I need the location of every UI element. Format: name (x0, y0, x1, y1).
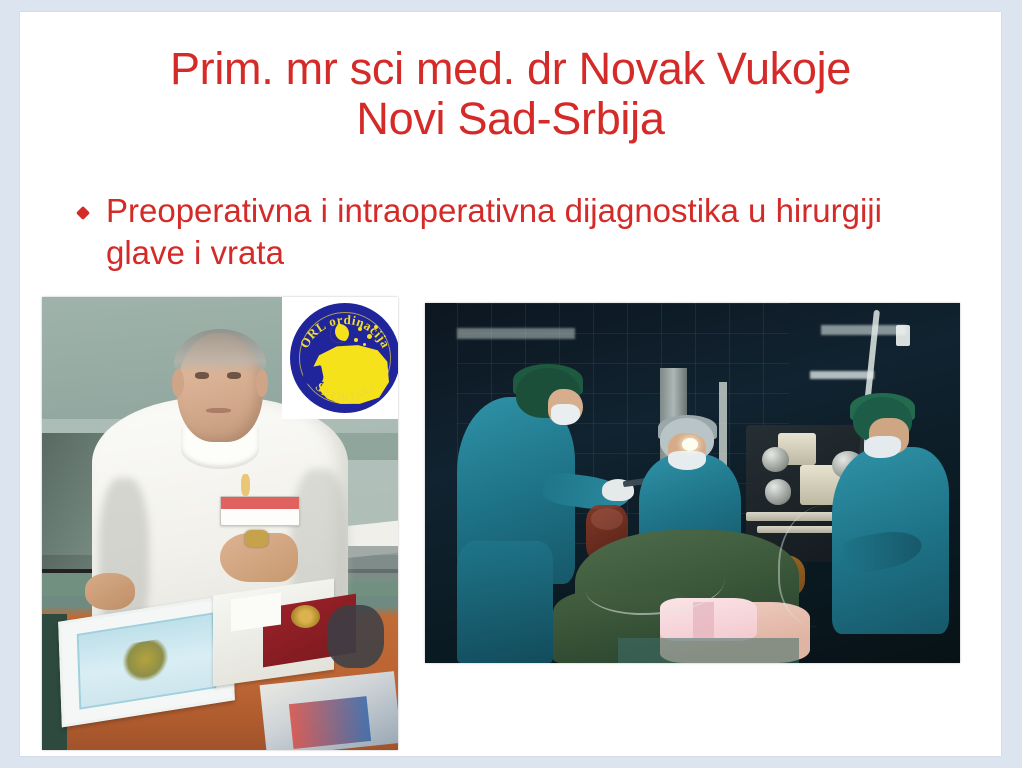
magazine-cover-art (289, 696, 372, 749)
star-icon (367, 334, 372, 339)
operating-table-sheet (618, 638, 800, 663)
doctor-ear-right (256, 369, 268, 396)
logo-circle: ORL ordinacija SNORING (290, 303, 398, 413)
anesthetist-face-mask (864, 436, 901, 458)
star-icon (363, 343, 366, 346)
orl-clinic-logo: ORL ordinacija SNORING (282, 297, 398, 419)
equipment-knob-2 (765, 479, 792, 504)
wristwatch (245, 530, 268, 546)
patient-clothing-band (693, 602, 714, 638)
tube-connector (896, 325, 910, 347)
doctor-mouth (206, 408, 231, 413)
title-line-2: Novi Sad-Srbija (20, 94, 1001, 144)
headlamp-icon (682, 438, 698, 451)
ceiling-light-right (821, 325, 907, 336)
bullet-list-item: Preoperativna i intraoperativna dijagnos… (78, 190, 958, 274)
bullet-diamond-icon (76, 206, 90, 220)
breathing-circuit-cable (778, 505, 876, 627)
operating-room-photo (425, 303, 960, 663)
name-badge (220, 496, 300, 526)
desk-object-dark (327, 605, 384, 668)
crescent-moon-icon (330, 324, 349, 343)
slide-frame: Prim. mr sci med. dr Novak Vukoje Novi S… (0, 0, 1022, 768)
star-icon (374, 325, 378, 329)
equipment-knob-1 (762, 447, 789, 472)
certificate-inner (77, 612, 217, 709)
title-line-1: Prim. mr sci med. dr Novak Vukoje (20, 44, 1001, 94)
name-badge-stripe (221, 497, 299, 509)
doctor-left-hand (85, 573, 135, 609)
wall-light (810, 371, 874, 379)
doctor-eye-left (195, 372, 209, 379)
badge-pin-icon (241, 474, 250, 497)
nurse-lower-body (457, 541, 553, 663)
doctor-ear-left (172, 369, 184, 396)
certificate-emblem (122, 638, 169, 685)
page-title: Prim. mr sci med. dr Novak Vukoje Novi S… (20, 44, 1001, 145)
ceiling-light-left (457, 328, 575, 339)
star-icon (354, 338, 358, 342)
doctor-eye-right (227, 372, 241, 379)
bullet-item-label: Preoperativna i intraoperativna dijagnos… (106, 190, 958, 274)
doctor-at-desk-photo: ORL ordinacija SNORING (42, 297, 398, 750)
folder-seal-icon (291, 605, 319, 628)
slide-surface: Prim. mr sci med. dr Novak Vukoje Novi S… (20, 12, 1001, 756)
